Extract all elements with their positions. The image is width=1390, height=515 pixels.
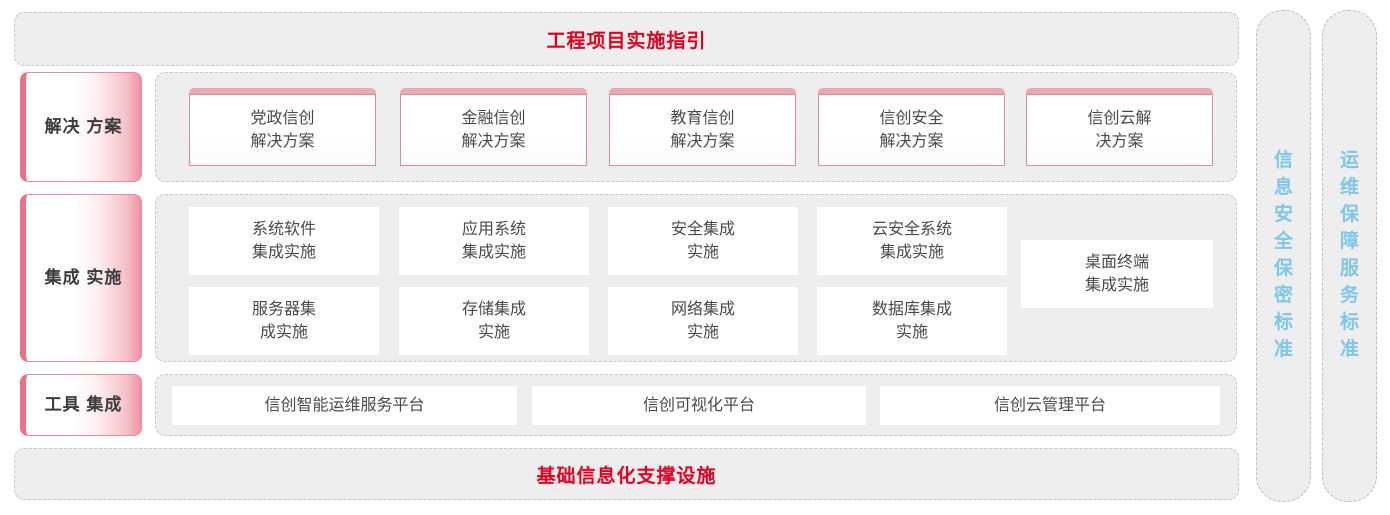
integration-card-label: 存储集成 实施 <box>462 298 526 344</box>
category-label-tools: 工具 集成 <box>20 374 142 436</box>
integration-card-label: 安全集成 实施 <box>671 218 735 264</box>
card-body: 信创安全 解决方案 <box>818 94 1005 166</box>
card-body: 教育信创 解决方案 <box>609 94 796 166</box>
solution-card-label: 金融信创 解决方案 <box>461 107 525 153</box>
integration-card[interactable]: 存储集成 实施 <box>399 287 589 355</box>
tool-card-label: 信创智能运维服务平台 <box>264 394 424 417</box>
solution-card-label: 教育信创 解决方案 <box>670 107 734 153</box>
solution-card[interactable]: 教育信创 解决方案 <box>609 88 796 166</box>
category-label-integration-text: 集成 实施 <box>45 267 123 290</box>
category-label-tools-text: 工具 集成 <box>45 394 123 417</box>
integration-card-label: 系统软件 集成实施 <box>252 218 316 264</box>
card-body: 信创云解 决方案 <box>1026 94 1213 166</box>
tool-card[interactable]: 信创可视化平台 <box>532 386 866 425</box>
diagram-canvas: 工程项目实施指引 解决 方案 党政信创 解决方案 金融信创 解决方案 教育信创 … <box>0 0 1390 515</box>
solution-card-label: 信创云解 决方案 <box>1087 107 1151 153</box>
header-title: 工程项目实施指引 <box>546 26 706 53</box>
side-panel-ops-standard: 运维保障服务标准 <box>1322 10 1377 502</box>
integration-card[interactable]: 网络集成 实施 <box>608 287 798 355</box>
integration-card-label: 服务器集 成实施 <box>252 298 316 344</box>
card-body: 党政信创 解决方案 <box>189 94 376 166</box>
integration-card[interactable]: 安全集成 实施 <box>608 207 798 275</box>
solution-card-label: 信创安全 解决方案 <box>879 107 943 153</box>
side-panel-security-standard: 信息安全保密标准 <box>1256 10 1311 502</box>
header-banner: 工程项目实施指引 <box>14 12 1239 66</box>
side-panel-ops-standard-text: 运维保障服务标准 <box>1338 148 1362 364</box>
integration-card[interactable]: 数据库集成 实施 <box>817 287 1007 355</box>
category-label-solution-text: 解决 方案 <box>45 116 123 139</box>
footer-banner: 基础信息化支撑设施 <box>14 448 1239 500</box>
integration-card-label: 云安全系统 集成实施 <box>872 218 952 264</box>
solution-card[interactable]: 金融信创 解决方案 <box>400 88 587 166</box>
solution-card[interactable]: 信创云解 决方案 <box>1026 88 1213 166</box>
integration-card[interactable]: 系统软件 集成实施 <box>189 207 379 275</box>
integration-card[interactable]: 应用系统 集成实施 <box>399 207 589 275</box>
card-body: 金融信创 解决方案 <box>400 94 587 166</box>
integration-card-label: 数据库集成 实施 <box>872 298 952 344</box>
side-panel-security-standard-text: 信息安全保密标准 <box>1272 148 1296 364</box>
integration-card-label: 桌面终端 集成实施 <box>1085 251 1149 297</box>
integration-card-label: 网络集成 实施 <box>671 298 735 344</box>
tool-card[interactable]: 信创云管理平台 <box>880 386 1220 425</box>
tool-card[interactable]: 信创智能运维服务平台 <box>172 386 517 425</box>
solution-card-label: 党政信创 解决方案 <box>250 107 314 153</box>
solution-card[interactable]: 信创安全 解决方案 <box>818 88 1005 166</box>
integration-card[interactable]: 云安全系统 集成实施 <box>817 207 1007 275</box>
footer-title: 基础信息化支撑设施 <box>536 461 716 488</box>
solution-card[interactable]: 党政信创 解决方案 <box>189 88 376 166</box>
tool-card-label: 信创云管理平台 <box>994 394 1106 417</box>
tool-card-label: 信创可视化平台 <box>643 394 755 417</box>
category-label-integration: 集成 实施 <box>20 194 142 362</box>
category-label-solution: 解决 方案 <box>20 72 142 182</box>
integration-card-label: 应用系统 集成实施 <box>462 218 526 264</box>
integration-card-desktop-terminal[interactable]: 桌面终端 集成实施 <box>1021 240 1213 308</box>
integration-card[interactable]: 服务器集 成实施 <box>189 287 379 355</box>
